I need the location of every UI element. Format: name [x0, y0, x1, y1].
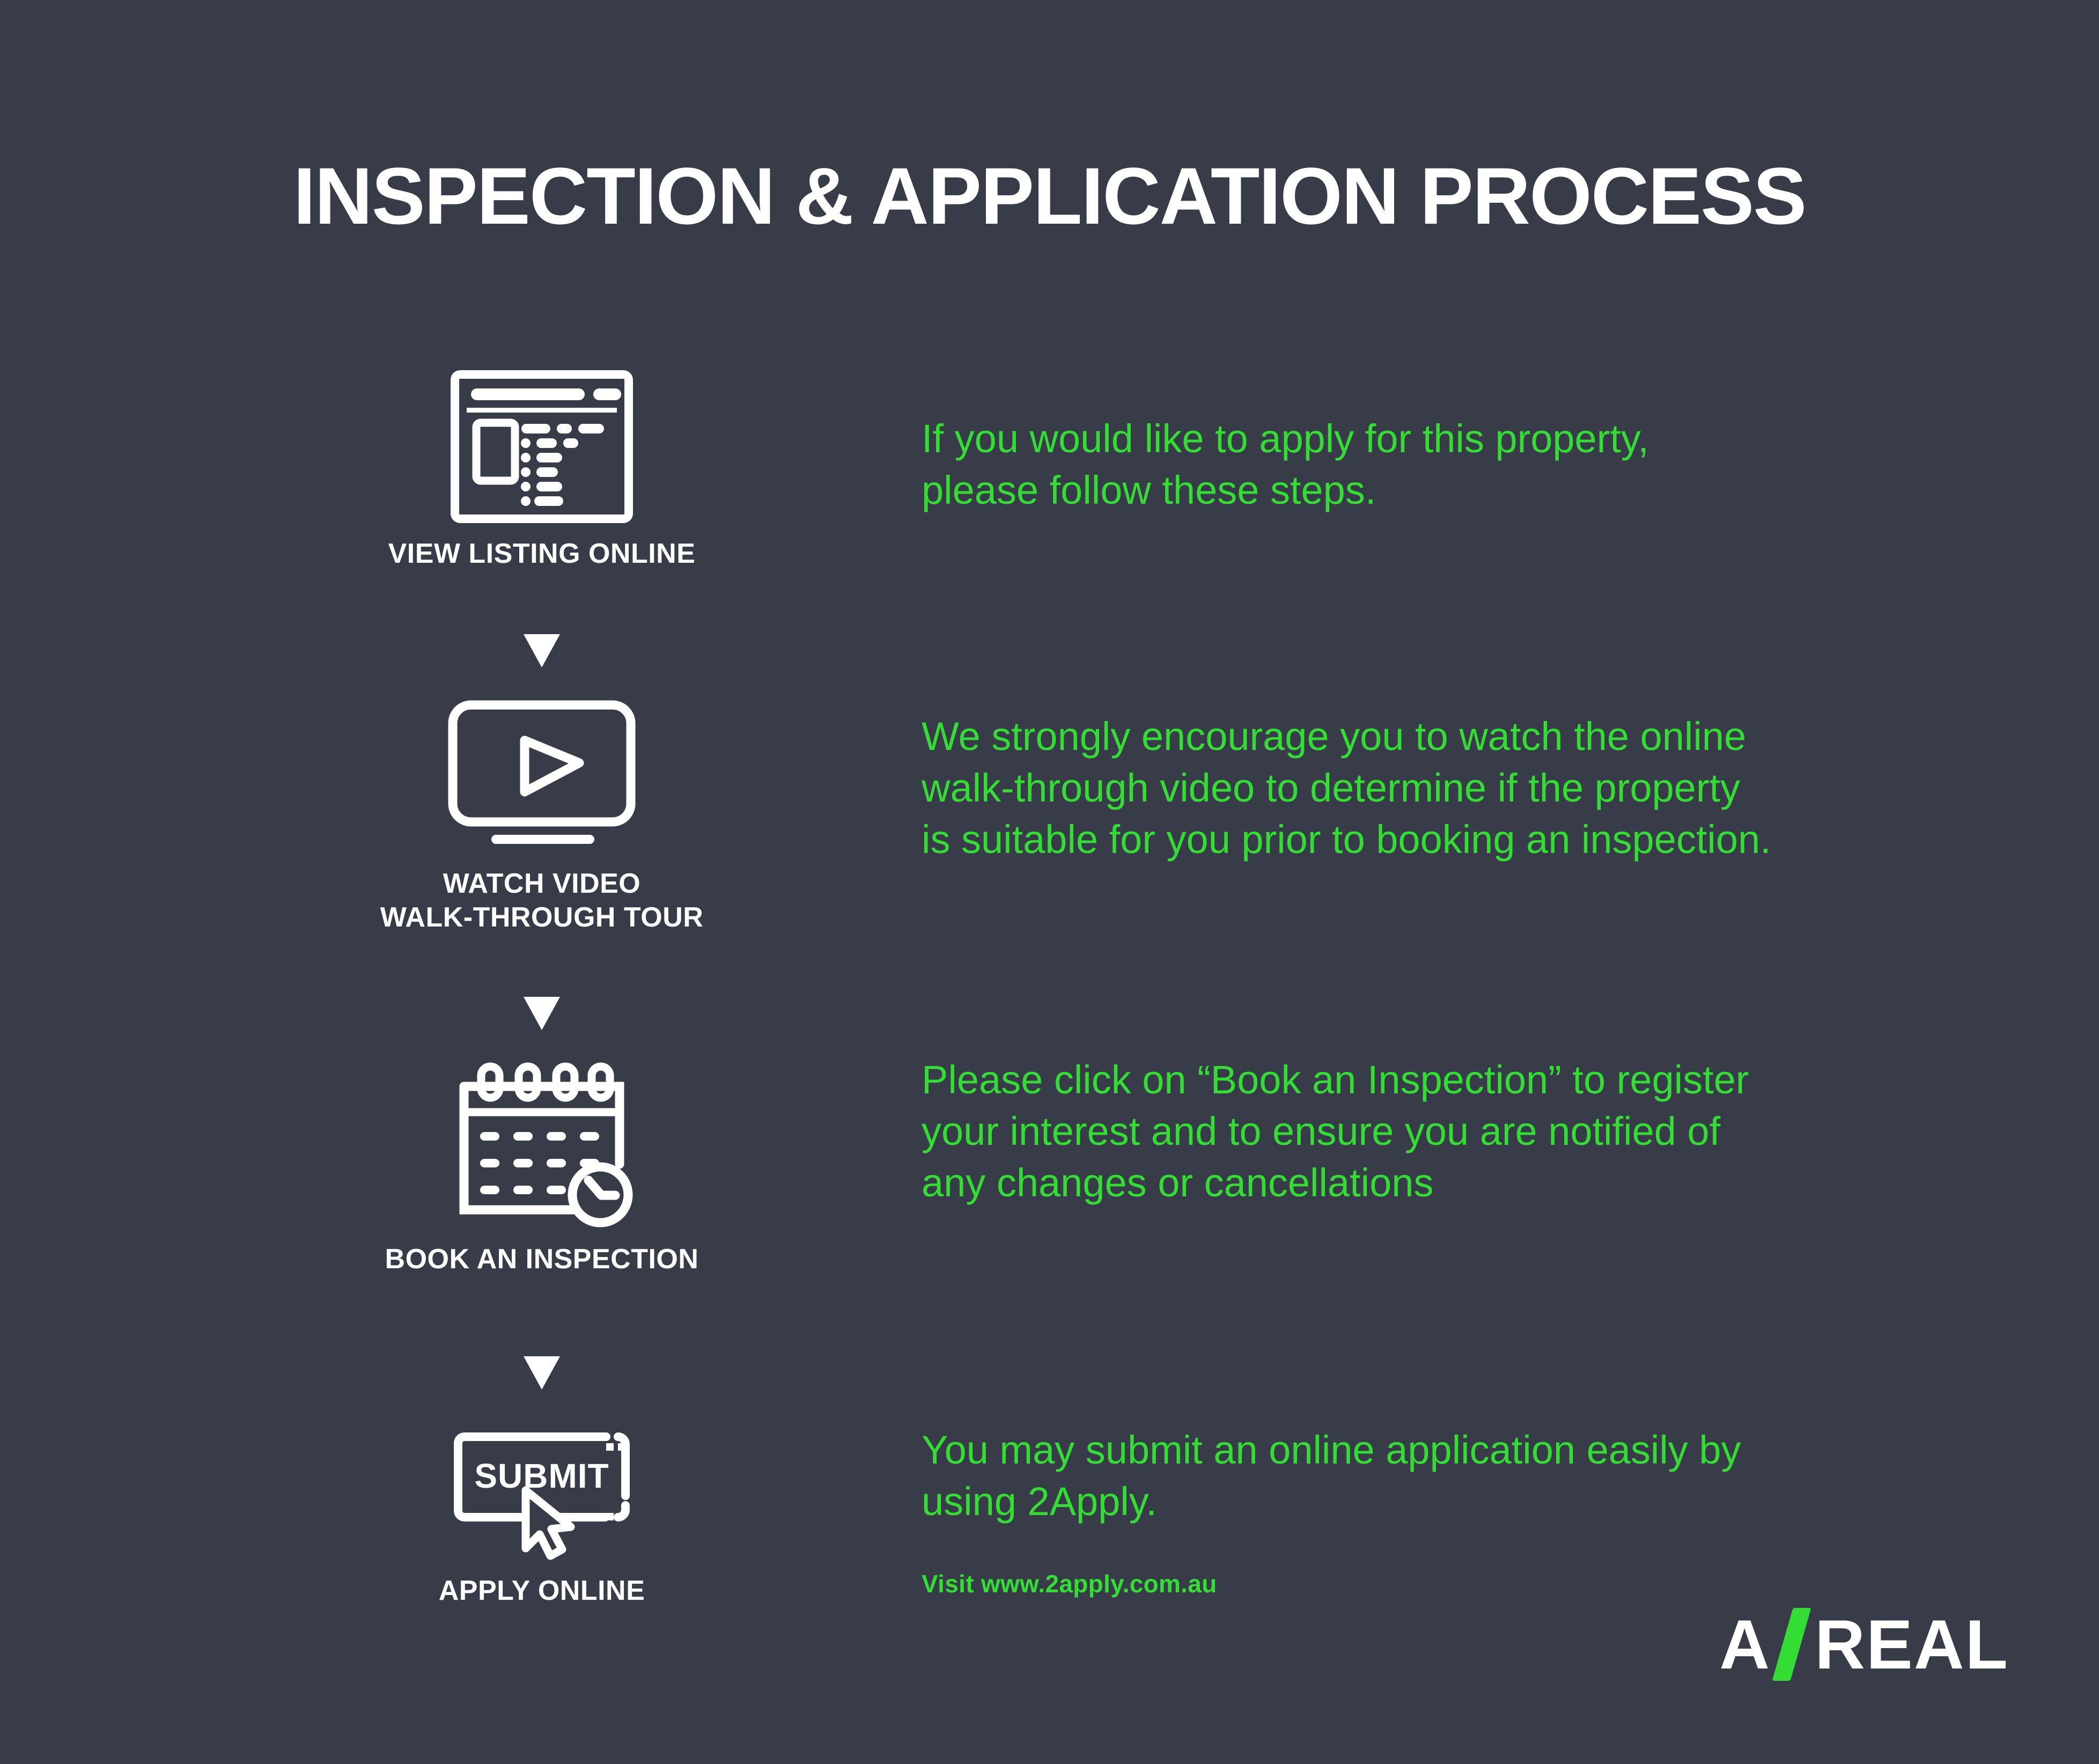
flow-arrow-1: [300, 634, 783, 670]
copy-block-apply: You may submit an online application eas…: [922, 1424, 1919, 1527]
flow-arrow-3: [300, 1356, 783, 1392]
copy-block-video: We strongly encourage you to watch the o…: [922, 711, 1919, 866]
flow-arrow-2: [300, 997, 783, 1033]
calendar-clock-icon: [448, 1057, 636, 1229]
submit-button-cursor-icon: SUBMIT: [445, 1415, 638, 1560]
copy-block-intro: If you would like to apply for this prop…: [922, 413, 1919, 516]
step-book-inspection[interactable]: BOOK AN INSPECTION: [300, 1057, 783, 1276]
step-apply-online[interactable]: SUBMIT APPLY ONLINE: [300, 1415, 783, 1608]
step-label-book-inspection: BOOK AN INSPECTION: [300, 1243, 783, 1276]
page-title: INSPECTION & APPLICATION PROCESS: [0, 156, 2099, 236]
down-triangle-icon: [524, 634, 560, 667]
video-player-icon: [445, 697, 638, 853]
visit-2apply-link[interactable]: Visit www.2apply.com.au: [922, 1569, 1217, 1598]
logo-slash-icon: [1772, 1608, 1811, 1681]
step-watch-video[interactable]: WATCH VIDEO WALK-THROUGH TOUR: [300, 697, 783, 935]
poster-root: INSPECTION & APPLICATION PROCESS: [0, 0, 2099, 1764]
logo-text-a: A: [1719, 1609, 1771, 1679]
copy-block-inspection: Please click on “Book an Inspection” to …: [922, 1054, 1919, 1209]
listing-window-icon: [451, 370, 633, 523]
logo-text-real: REAL: [1815, 1609, 2009, 1679]
step-label-watch-video: WATCH VIDEO WALK-THROUGH TOUR: [300, 867, 783, 935]
step-view-listing-online[interactable]: VIEW LISTING ONLINE: [300, 370, 783, 571]
step-label-view-listing-online: VIEW LISTING ONLINE: [300, 537, 783, 571]
submit-icon-label: SUBMIT: [474, 1457, 609, 1495]
down-triangle-icon: [524, 997, 560, 1030]
step-label-apply-online: APPLY ONLINE: [300, 1574, 783, 1608]
down-triangle-icon: [524, 1356, 560, 1390]
brand-logo[interactable]: A REAL: [1719, 1604, 2009, 1685]
